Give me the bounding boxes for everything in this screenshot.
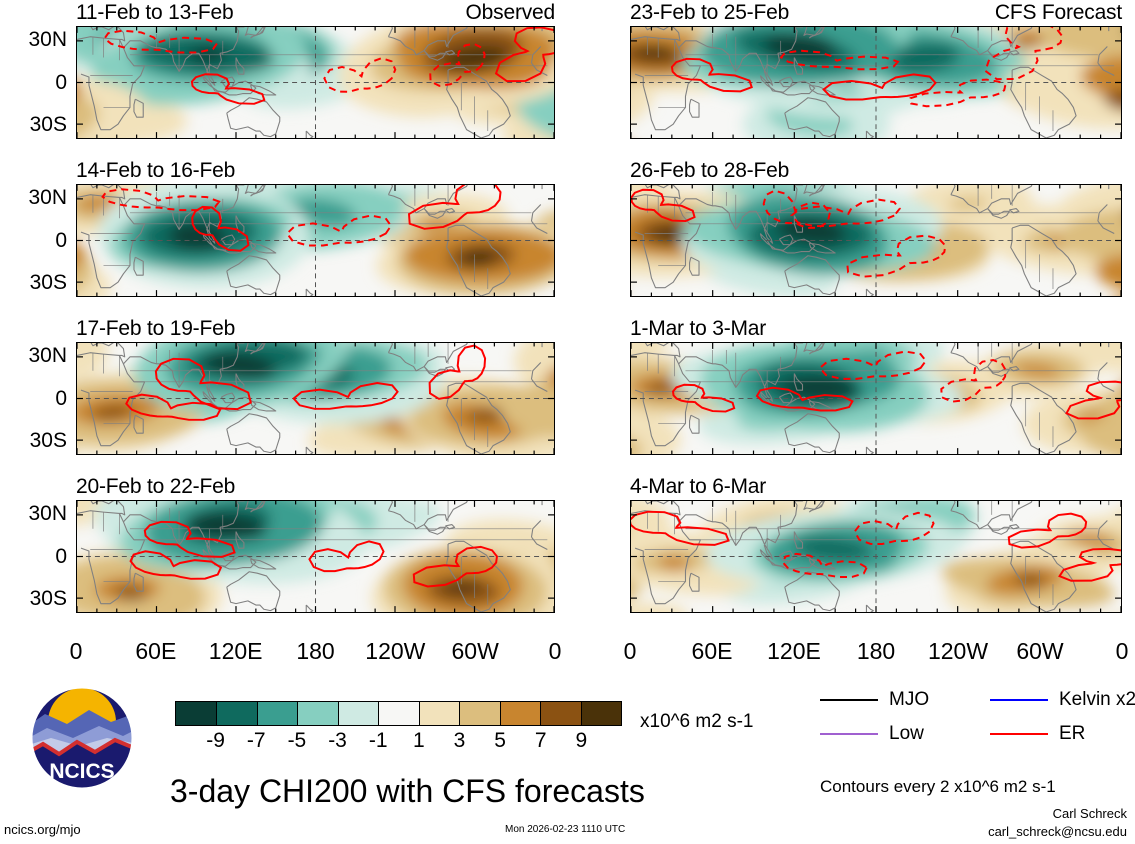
colorbar-swatch-10 — [581, 702, 621, 725]
map-panel-obs-2: 14-Feb to 16-Feb30N030S — [76, 184, 555, 297]
colorbar-tick-1: -7 — [247, 730, 266, 751]
map-area-fcst-1 — [630, 26, 1122, 139]
ncics-logo: NCICS — [25, 688, 139, 792]
map-panel-fcst-3: 1-Mar to 3-Mar — [630, 342, 1122, 455]
colorbar-tick-9: 9 — [576, 730, 588, 751]
y-axis-label-30n: 30N — [28, 345, 67, 366]
map-area-fcst-4 — [630, 500, 1122, 613]
x-axis-tick-6: 0 — [1116, 640, 1129, 663]
y-axis-label-0: 0 — [55, 546, 67, 567]
colorbar-tick-4: -1 — [369, 730, 388, 751]
map-panel-obs-1: 11-Feb to 13-FebObserved30N030S — [76, 26, 555, 139]
colorbar-swatch-3 — [297, 702, 337, 725]
x-axis-tick-1: 60E — [692, 640, 733, 663]
colorbar-swatch-8 — [500, 702, 540, 725]
x-axis-tick-4: 120W — [365, 640, 425, 663]
ncics-logo-graphic: NCICS — [25, 688, 139, 792]
panel-title-obs-3: 17-Feb to 19-Feb — [76, 318, 235, 339]
legend-label: Low — [889, 724, 924, 743]
y-axis-label-30n: 30N — [28, 503, 67, 524]
panel-title-fcst-2: 26-Feb to 28-Feb — [630, 160, 789, 181]
colorbar-swatch-1 — [216, 702, 256, 725]
x-axis-tick-4: 120W — [928, 640, 988, 663]
map-area-obs-4 — [76, 500, 555, 613]
map-panel-fcst-2: 26-Feb to 28-Feb — [630, 184, 1122, 297]
legend-item-low: Low — [820, 724, 924, 743]
timestamp: Mon 2026-02-23 1110 UTC — [505, 824, 625, 836]
column-header-observed: Observed — [466, 2, 555, 23]
colorbar-tick-5: 1 — [413, 730, 425, 751]
author-name: Carl Schreck — [1053, 806, 1127, 821]
colorbar-swatch-0 — [176, 702, 216, 725]
colorbar-swatch-9 — [540, 702, 580, 725]
panel-title-obs-2: 14-Feb to 16-Feb — [76, 160, 235, 181]
legend-label: MJO — [889, 690, 929, 709]
x-axis-tick-5: 60W — [1016, 640, 1063, 663]
legend-item-kelvin-x2: Kelvin x2 — [990, 690, 1135, 709]
map-area-obs-3 — [76, 342, 555, 455]
y-axis-label-30s: 30S — [30, 430, 67, 451]
colorbar-tick-2: -5 — [288, 730, 307, 751]
x-axis-tick-3: 180 — [296, 640, 334, 663]
y-axis-label-30s: 30S — [30, 588, 67, 609]
colorbar-tick-3: -3 — [328, 730, 347, 751]
legend-label: ER — [1059, 724, 1085, 743]
map-area-fcst-2 — [630, 184, 1122, 297]
map-panel-obs-3: 17-Feb to 19-Feb30N030S — [76, 342, 555, 455]
author-email[interactable]: carl_schreck@ncsu.edu — [988, 824, 1127, 839]
colorbar-tick-7: 5 — [494, 730, 506, 751]
map-panel-fcst-4: 4-Mar to 6-Mar — [630, 500, 1122, 613]
legend-item-er: ER — [990, 724, 1085, 743]
colorbar-swatch-5 — [378, 702, 418, 725]
y-axis-label-30n: 30N — [28, 187, 67, 208]
map-panel-obs-4: 20-Feb to 22-Feb30N030S — [76, 500, 555, 613]
legend-item-mjo: MJO — [820, 690, 929, 709]
legend-line-low-icon — [820, 733, 878, 735]
colorbar — [175, 701, 622, 726]
contour-interval-note: Contours every 2 x10^6 m2 s-1 — [820, 778, 1056, 795]
logo-text: NCICS — [49, 760, 114, 783]
panel-title-fcst-1: 23-Feb to 25-Feb — [630, 2, 789, 23]
panel-title-obs-1: 11-Feb to 13-Feb — [76, 2, 234, 23]
legend-line-kelvin-x2-icon — [990, 699, 1048, 701]
colorbar-swatch-7 — [459, 702, 499, 725]
y-axis-label-0: 0 — [55, 230, 67, 251]
x-axis-tick-1: 60E — [135, 640, 176, 663]
wave-type-legend: MJOKelvin x2LowER — [820, 690, 1130, 760]
legend-line-mjo-icon — [820, 699, 878, 701]
colorbar-tick-labels: -9-7-5-3-113579 — [175, 730, 622, 754]
main-title: 3-day CHI200 with CFS forecasts — [170, 775, 645, 807]
map-panel-fcst-1: 23-Feb to 25-FebCFS Forecast — [630, 26, 1122, 139]
y-axis-label-0: 0 — [55, 72, 67, 93]
x-axis-tick-6: 0 — [549, 640, 562, 663]
map-area-obs-2 — [76, 184, 555, 297]
y-axis-label-30n: 30N — [28, 29, 67, 50]
x-axis-tick-5: 60W — [452, 640, 499, 663]
colorbar-swatch-2 — [257, 702, 297, 725]
y-axis-label-30s: 30S — [30, 272, 67, 293]
x-axis-tick-2: 120E — [209, 640, 263, 663]
x-axis-tick-0: 0 — [70, 640, 83, 663]
site-url[interactable]: ncics.org/mjo — [4, 822, 81, 837]
colorbar-swatch-4 — [338, 702, 378, 725]
colorbar-unit-label: x10^6 m2 s-1 — [640, 712, 753, 731]
colorbar-tick-8: 7 — [535, 730, 547, 751]
colorbar-swatch-6 — [419, 702, 459, 725]
x-axis-tick-2: 120E — [767, 640, 821, 663]
colorbar-tick-0: -9 — [206, 730, 225, 751]
legend-label: Kelvin x2 — [1059, 690, 1135, 709]
column-header-forecast: CFS Forecast — [995, 2, 1122, 23]
y-axis-label-30s: 30S — [30, 114, 67, 135]
legend-line-er-icon — [990, 733, 1048, 735]
x-axis-tick-0: 0 — [624, 640, 637, 663]
map-area-obs-1 — [76, 26, 555, 139]
x-axis-tick-3: 180 — [857, 640, 895, 663]
y-axis-label-0: 0 — [55, 388, 67, 409]
colorbar-tick-6: 3 — [454, 730, 466, 751]
panel-title-fcst-3: 1-Mar to 3-Mar — [630, 318, 766, 339]
panel-title-obs-4: 20-Feb to 22-Feb — [76, 476, 235, 497]
map-area-fcst-3 — [630, 342, 1122, 455]
panel-title-fcst-4: 4-Mar to 6-Mar — [630, 476, 766, 497]
